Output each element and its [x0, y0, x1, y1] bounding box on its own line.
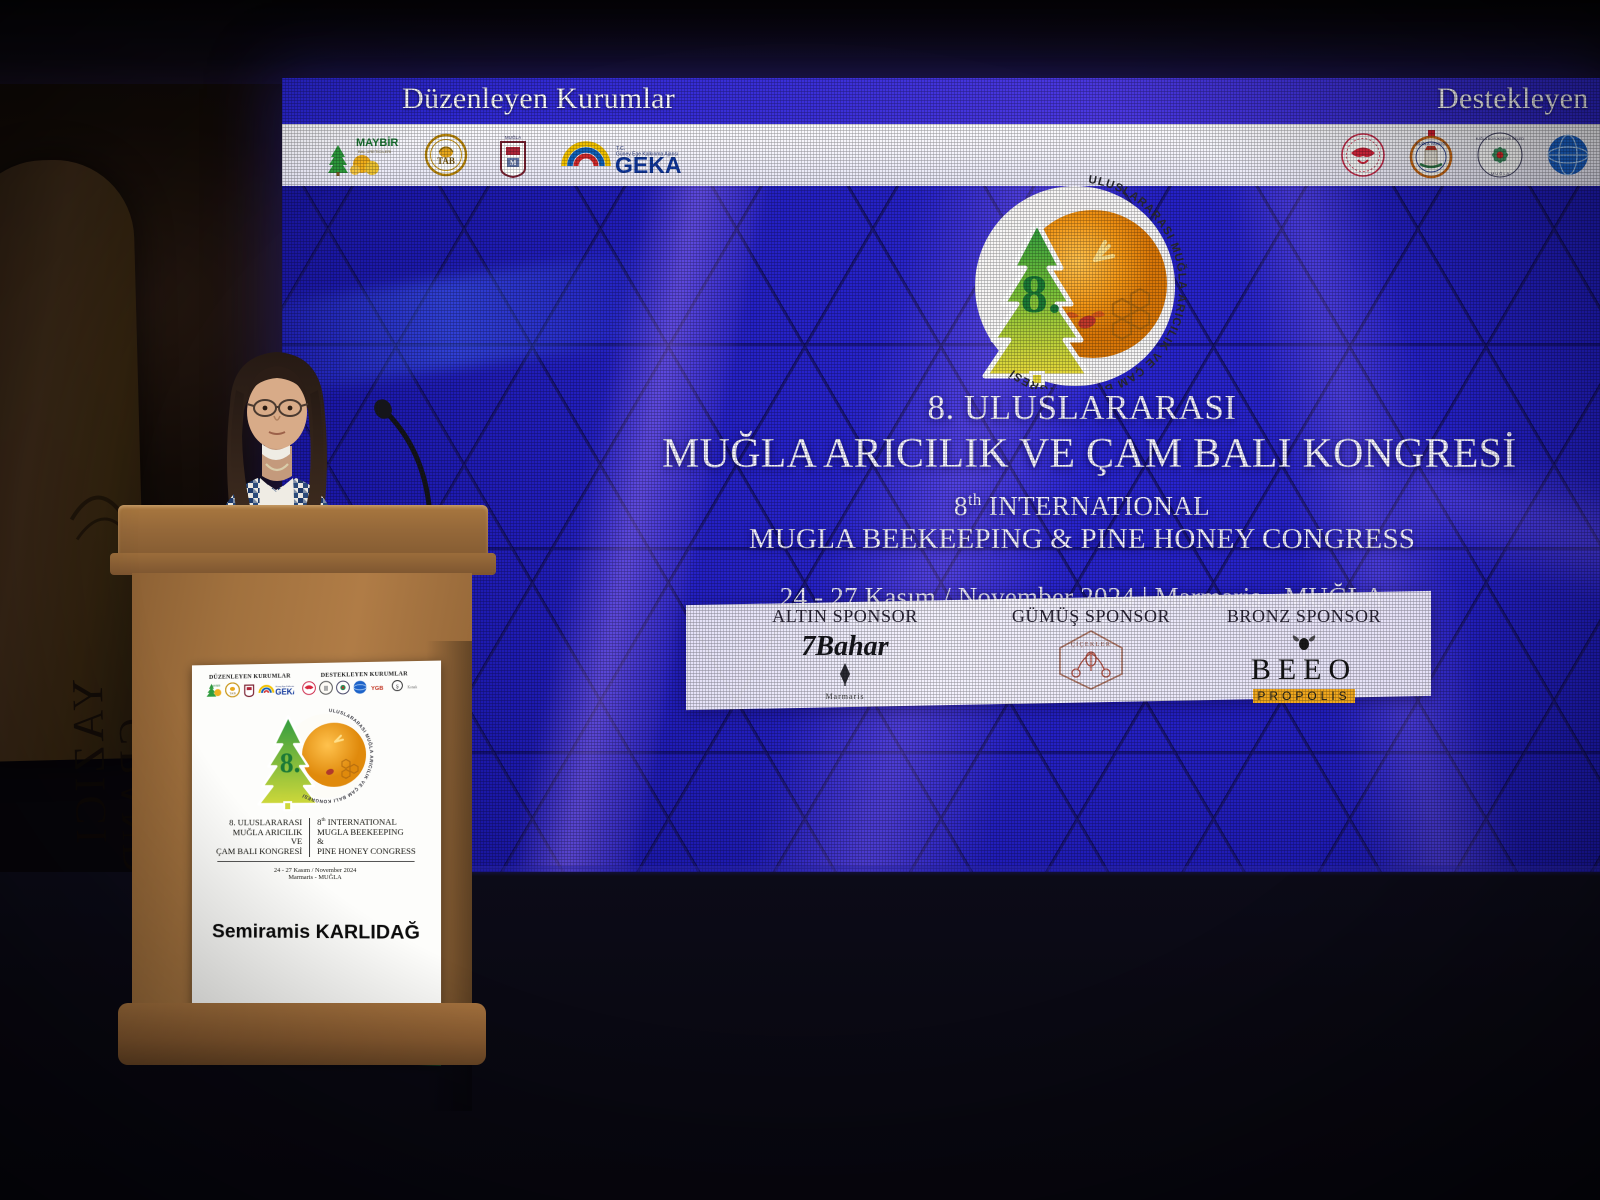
mugla-valiligi-seal: MUĞLA VALİLİĞİ: [1408, 130, 1454, 180]
svg-text:M U Ğ L A: M U Ğ L A: [1491, 171, 1510, 176]
tarim-seal-small: [302, 681, 316, 695]
university-logo-small: Ş: [391, 679, 403, 693]
congress-title-block: 8. ULUSLARARASI MUĞLA ARICILIK VE ÇAM BA…: [662, 388, 1502, 613]
sponsor-gold: ALTIN SPONSOR 7Bahar Marmaris: [720, 606, 970, 701]
ceiling-band: [0, 0, 1600, 84]
tarim-bakanligi-seal: [1340, 132, 1386, 178]
geka-logo: T.C. Güney Ege Kalkınma Ajansı GEKA: [558, 132, 690, 178]
mugla-logo: MUĞLA M: [494, 132, 532, 178]
maybir-logo-small: MAYBİR: [206, 683, 223, 698]
poster-title-turkish: 8. ULUSLARARASI MUĞLA ARICILIK VE ÇAM BA…: [216, 818, 302, 857]
poster-rule: [217, 860, 414, 861]
belediye-seal-small: [336, 680, 350, 694]
title-line-2: MUĞLA ARICILIK VE ÇAM BALI KONGRESİ: [662, 430, 1502, 478]
valilik-seal-small: [319, 681, 333, 695]
sponsor-bronze: BRONZ SPONSOR BEEO PROPOLIS: [1194, 606, 1414, 705]
svg-text:Konak: Konak: [407, 685, 417, 689]
svg-text:M: M: [510, 159, 517, 167]
svg-text:YGB: YGB: [371, 686, 383, 692]
podium-body: DÜZENLEYEN KURUMLAR MAYBİR: [132, 573, 472, 1043]
poster-date-2: Marmaris - MUĞLA: [202, 874, 431, 882]
sponsor-mark-icon: [830, 661, 860, 687]
podium-top-rail: [118, 505, 488, 557]
logo-strip: MAYBİR BAL ÜRETİCİLERİ: [282, 124, 1600, 186]
microphone: [330, 368, 460, 518]
poster-supporter-logos: YGB Ş Konak: [302, 679, 427, 695]
poster-organizers-header: DÜZENLEYEN KURUMLAR: [206, 673, 295, 681]
svg-text:GEKA: GEKA: [275, 687, 294, 696]
sponsor-logo-cicekler: ÇİÇEKLER: [1052, 629, 1130, 691]
title-line-3: 8th INTERNATIONAL: [662, 490, 1502, 522]
svg-text:Ş: Ş: [396, 685, 399, 690]
ygb-logo-small: YGB: [370, 680, 388, 694]
sponsor-tagline: Marmaris: [720, 692, 970, 701]
poster-organizer-logos: MAYBİR TAB: [206, 681, 295, 697]
poster-supporters-header: DESTEKLEYEN KURUMLAR: [302, 671, 427, 679]
conference-stage-scene: Düzenleyen Kurumlar Destekleyen MAYBİR B…: [0, 0, 1600, 1200]
podium: DÜZENLEYEN KURUMLAR MAYBİR: [118, 505, 488, 1065]
globe-seal-small: [353, 680, 367, 694]
geka-logo-small: GEKA Güney Ege Kalkınma: [259, 681, 295, 697]
sponsor-band: ALTIN SPONSOR 7Bahar Marmaris GÜMÜŞ SPON…: [686, 591, 1431, 710]
venue-banner-brand: YAZICI: [62, 679, 117, 848]
maybir-logo: MAYBİR BAL ÜRETİCİLERİ: [324, 133, 398, 177]
sponsor-logo-beeo: BEEO: [1194, 653, 1414, 687]
mugla-buyuksehir-belediyesi-seal: T.C. MUĞLA BÜYÜKŞEHİR BELEDİYESİ M U Ğ L…: [1476, 131, 1524, 179]
poster-divider: [309, 818, 310, 856]
podium-lip: [110, 553, 496, 575]
sponsor-tier-label: BRONZ SPONSOR: [1194, 606, 1414, 627]
sponsor-logo-7bahar: 7Bahar: [720, 631, 970, 663]
supporters-header: Destekleyen: [1437, 82, 1589, 116]
svg-text:MUĞLA VALİLİĞİ: MUĞLA VALİLİĞİ: [1415, 141, 1446, 146]
sponsor-tier-label: ALTIN SPONSOR: [720, 606, 970, 627]
poster-congress-logo: 8. ULUSLARARASI MUĞLA ARICILIK VE ÇAM BA…: [241, 699, 390, 813]
supporter-logo-group: MUĞLA VALİLİĞİ T.C. MUĞLA BÜYÜKŞEHİR BEL…: [1340, 130, 1600, 180]
svg-text:BAL ÜRETİCİLERİ: BAL ÜRETİCİLERİ: [358, 149, 391, 154]
partner-logo-small: Konak: [406, 679, 426, 693]
sponsor-silver: GÜMÜŞ SPONSOR ÇİÇEKLER: [986, 606, 1196, 696]
poster-title-english: 8th INTERNATIONAL MUGLA BEEKEEPING & PIN…: [317, 818, 416, 857]
congress-logo: 8. ULUSLARARASI MUĞLA ARICILIK VE ÇAM BA…: [945, 164, 1205, 389]
speaker-name-label: Semiramis KARLIDAĞ: [192, 920, 441, 945]
svg-text:ÇİÇEKLER: ÇİÇEKLER: [1071, 641, 1112, 648]
svg-text:8.: 8.: [1021, 264, 1062, 324]
svg-text:T.C. MUĞLA BÜYÜKŞEHİR BELEDİYE: T.C. MUĞLA BÜYÜKŞEHİR BELEDİYESİ: [1476, 136, 1524, 141]
tab-logo: TAB: [424, 133, 468, 177]
mugla-logo-small: [243, 682, 256, 697]
svg-text:MUĞLA: MUĞLA: [505, 134, 522, 140]
sponsor-tier-label: GÜMÜŞ SPONSOR: [986, 606, 1196, 627]
svg-text:TAB: TAB: [229, 691, 236, 695]
bee-icon: [1286, 631, 1322, 651]
svg-text:8.: 8.: [280, 748, 301, 779]
svg-text:GEKA: GEKA: [615, 152, 681, 178]
svg-text:MAYBİR: MAYBİR: [356, 136, 398, 149]
title-line-1: 8. ULUSLARARASI: [662, 388, 1502, 428]
svg-text:TAB: TAB: [437, 156, 455, 166]
tab-logo-small: TAB: [225, 682, 240, 697]
podium-base: [118, 1003, 486, 1065]
svg-text:Güney Ege Kalkınma: Güney Ege Kalkınma: [275, 686, 294, 688]
globe-seal: [1546, 131, 1600, 179]
organizer-logo-group: MAYBİR BAL ÜRETİCİLERİ: [324, 132, 690, 178]
organizers-header: Düzenleyen Kurumlar: [402, 82, 675, 116]
title-line-4: MUGLA BEEKEEPING & PINE HONEY CONGRESS: [662, 523, 1502, 556]
svg-text:MAYBİR: MAYBİR: [211, 685, 220, 688]
sponsor-logo-beeo-sub: PROPOLIS: [1253, 689, 1354, 703]
